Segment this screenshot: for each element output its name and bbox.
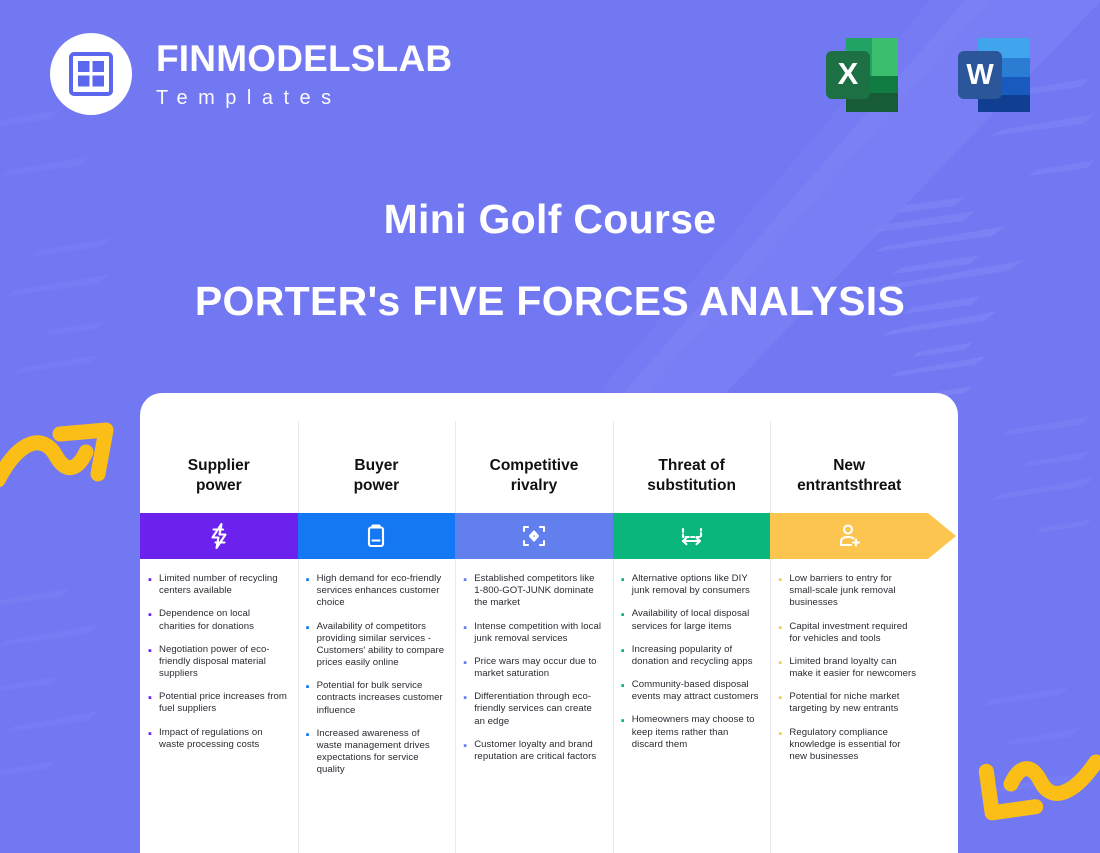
list-item: ▪Price wars may occur due to market satu… — [463, 656, 603, 680]
list-item: ▪Increased awareness of waste management… — [306, 728, 446, 777]
swap-exchange-icon — [677, 521, 707, 551]
office-format-icons: X W — [818, 28, 1040, 118]
page-title: Mini Golf Course — [0, 195, 1100, 243]
list-item: ▪Regulatory compliance knowledge is esse… — [778, 727, 918, 764]
list-item: ▪Differentiation through eco-friendly se… — [463, 691, 603, 728]
column-header: Supplierpower — [140, 439, 298, 513]
add-user-icon — [834, 521, 864, 551]
list-item: ▪Homeowners may choose to keep items rat… — [621, 714, 761, 751]
bullet-text: Increased awareness of waste management … — [317, 728, 446, 777]
band-arrow-head-icon — [928, 513, 956, 559]
brand-subtitle: Templates — [156, 88, 452, 108]
clipboard-icon — [361, 521, 391, 551]
force-column-1: Supplierpower ▪ Limited number of recycl… — [140, 393, 298, 853]
word-icon: W — [950, 28, 1040, 118]
bullet-dot-icon: ▪ — [778, 727, 789, 764]
column-accent-band — [455, 513, 613, 559]
column-accent-band — [613, 513, 771, 559]
column-bullet-list: ▪ Low barriers to entry for small-scale … — [770, 559, 928, 763]
bullet-text: Limited brand loyalty can make it easier… — [789, 656, 918, 680]
bullet-dot-icon: ▪ — [148, 691, 159, 715]
bullet-text: Low barriers to entry for small-scale ju… — [789, 573, 918, 610]
bullet-dot-icon: ▪ — [778, 573, 789, 610]
bullet-text: Regulatory compliance knowledge is essen… — [789, 727, 918, 764]
bullet-text: Increasing popularity of donation and re… — [632, 644, 761, 668]
list-item: ▪Availability of competitors providing s… — [306, 621, 446, 670]
grid-logo-icon — [50, 33, 132, 115]
force-column-3: Competitiverivalry ▪Established competit… — [455, 393, 613, 853]
bullet-dot-icon: ▪ — [306, 680, 317, 717]
page-subtitle: PORTER's FIVE FORCES ANALYSIS — [0, 277, 1100, 325]
bullet-text: Price wars may occur due to market satur… — [474, 656, 603, 680]
bullet-dot-icon: ▪ — [463, 656, 474, 680]
force-column-5: Newentrantsthreat ▪ Low barriers to entr… — [770, 393, 928, 853]
bullet-text: Alternative options like DIY junk remova… — [632, 573, 761, 597]
bullet-dot-icon: ▪ — [148, 608, 159, 632]
bullet-dot-icon: ▪ — [306, 621, 317, 670]
column-bullet-list: ▪ High demand for eco-friendly services … — [298, 559, 456, 776]
column-accent-band — [298, 513, 456, 559]
porters-five-forces-card: Supplierpower ▪ Limited number of recycl… — [140, 393, 958, 853]
bullet-text: Impact of regulations on waste processin… — [159, 727, 288, 751]
bullet-text: Negotiation power of eco-friendly dispos… — [159, 644, 288, 681]
list-item: ▪ Alternative options like DIY junk remo… — [621, 573, 761, 597]
list-item: ▪Customer loyalty and brand reputation a… — [463, 739, 603, 763]
column-bullet-list: ▪ Limited number of recycling centers av… — [140, 559, 298, 751]
column-header-text: Threat ofsubstitution — [647, 456, 736, 496]
column-accent-band — [770, 513, 928, 559]
list-item: ▪Increasing popularity of donation and r… — [621, 644, 761, 668]
bullet-dot-icon: ▪ — [148, 644, 159, 681]
column-header: Threat ofsubstitution — [613, 439, 771, 513]
column-header: Buyerpower — [298, 439, 456, 513]
bullet-dot-icon: ▪ — [306, 728, 317, 777]
column-header-text: Newentrantsthreat — [797, 456, 901, 496]
bullet-text: Differentiation through eco-friendly ser… — [474, 691, 603, 728]
column-header-text: Competitiverivalry — [490, 456, 579, 496]
bullet-text: Availability of competitors providing si… — [317, 621, 446, 670]
list-item: ▪ Low barriers to entry for small-scale … — [778, 573, 918, 610]
column-accent-band — [140, 513, 298, 559]
list-item: ▪Intense competition with local junk rem… — [463, 621, 603, 645]
list-item: ▪Community-based disposal events may att… — [621, 679, 761, 703]
bullet-dot-icon: ▪ — [621, 714, 632, 751]
bullet-dot-icon: ▪ — [148, 727, 159, 751]
bullet-text: High demand for eco-friendly services en… — [317, 573, 446, 610]
list-item: ▪ Limited number of recycling centers av… — [148, 573, 288, 597]
squiggle-arrow-down-left-icon — [975, 748, 1100, 833]
squiggle-arrow-up-right-icon — [0, 408, 126, 490]
column-bullet-list: ▪ Alternative options like DIY junk remo… — [613, 559, 771, 751]
list-item: ▪Limited brand loyalty can make it easie… — [778, 656, 918, 680]
bullet-dot-icon: ▪ — [778, 656, 789, 680]
column-header: Competitiverivalry — [455, 439, 613, 513]
list-item: ▪Established competitors like 1-800-GOT-… — [463, 573, 603, 610]
list-item: ▪Dependence on local charities for donat… — [148, 608, 288, 632]
target-focus-icon — [519, 521, 549, 551]
bullet-text: Customer loyalty and brand reputation ar… — [474, 739, 603, 763]
list-item: ▪Potential price increases from fuel sup… — [148, 691, 288, 715]
column-bullet-list: ▪Established competitors like 1-800-GOT-… — [455, 559, 613, 763]
bullet-text: Potential for bulk service contracts inc… — [317, 680, 446, 717]
bullet-dot-icon: ▪ — [621, 608, 632, 632]
column-header-text: Supplierpower — [188, 456, 250, 496]
bullet-dot-icon: ▪ — [621, 679, 632, 703]
force-column-4: Threat ofsubstitution ▪ Alternative opti… — [613, 393, 771, 853]
column-header: Newentrantsthreat — [770, 439, 928, 513]
bullet-dot-icon: ▪ — [621, 644, 632, 668]
lightning-bolt-icon — [204, 521, 234, 551]
bullet-text: Potential price increases from fuel supp… — [159, 691, 288, 715]
list-item: ▪Availability of local disposal services… — [621, 608, 761, 632]
page-header: FINMODELSLAB Templates X W — [0, 0, 1100, 150]
bullet-dot-icon: ▪ — [463, 621, 474, 645]
bullet-text: Capital investment required for vehicles… — [789, 621, 918, 645]
bullet-dot-icon: ▪ — [463, 739, 474, 763]
bullet-text: Community-based disposal events may attr… — [632, 679, 761, 703]
force-column-2: Buyerpower ▪ High demand for eco-friendl… — [298, 393, 456, 853]
list-item: ▪Impact of regulations on waste processi… — [148, 727, 288, 751]
column-header-text: Buyerpower — [354, 456, 400, 496]
bullet-dot-icon: ▪ — [463, 573, 474, 610]
bullet-text: Homeowners may choose to keep items rath… — [632, 714, 761, 751]
five-forces-table: Supplierpower ▪ Limited number of recycl… — [140, 393, 958, 853]
bullet-text: Dependence on local charities for donati… — [159, 608, 288, 632]
list-item: ▪Potential for niche market targeting by… — [778, 691, 918, 715]
excel-icon: X — [818, 28, 908, 118]
brand-name: FINMODELSLAB — [156, 40, 452, 77]
bullet-text: Limited number of recycling centers avai… — [159, 573, 288, 597]
list-item: ▪Capital investment required for vehicle… — [778, 621, 918, 645]
list-item: ▪ High demand for eco-friendly services … — [306, 573, 446, 610]
bullet-text: Intense competition with local junk remo… — [474, 621, 603, 645]
bullet-dot-icon: ▪ — [306, 573, 317, 610]
bullet-dot-icon: ▪ — [778, 621, 789, 645]
list-item: ▪Negotiation power of eco-friendly dispo… — [148, 644, 288, 681]
bullet-dot-icon: ▪ — [148, 573, 159, 597]
bullet-text: Availability of local disposal services … — [632, 608, 761, 632]
bullet-dot-icon: ▪ — [463, 691, 474, 728]
brand-logo: FINMODELSLAB Templates — [50, 33, 452, 115]
svg-text:X: X — [838, 56, 859, 91]
list-item: ▪Potential for bulk service contracts in… — [306, 680, 446, 717]
bullet-dot-icon: ▪ — [621, 573, 632, 597]
bullet-text: Established competitors like 1-800-GOT-J… — [474, 573, 603, 610]
bullet-text: Potential for niche market targeting by … — [789, 691, 918, 715]
title-block: Mini Golf Course PORTER's FIVE FORCES AN… — [0, 195, 1100, 326]
svg-text:W: W — [966, 59, 994, 91]
bullet-dot-icon: ▪ — [778, 691, 789, 715]
